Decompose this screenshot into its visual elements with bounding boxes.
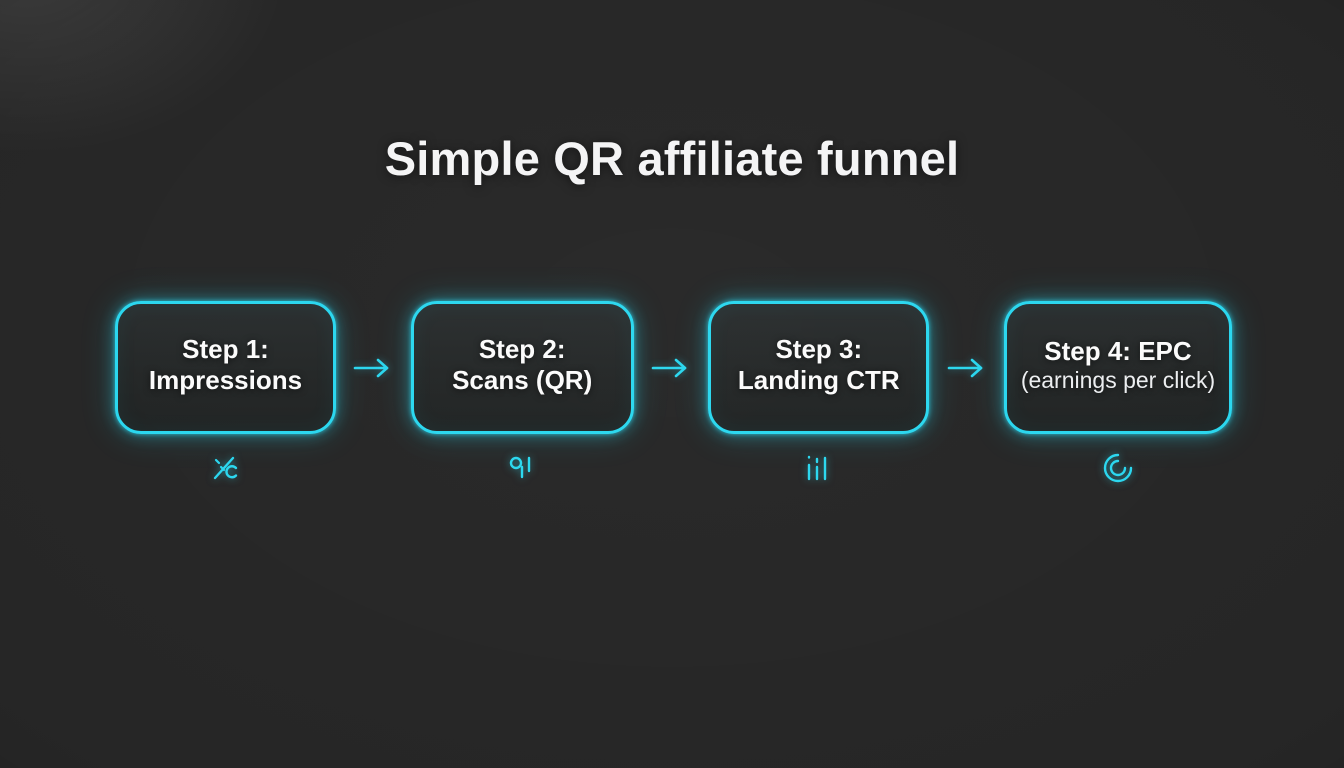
step-card-line1: Step 4: EPC bbox=[1044, 338, 1191, 365]
funnel-flow: Step 1: Impressions Step 2: bbox=[115, 301, 1232, 434]
step-card-line2: (earnings per click) bbox=[1021, 365, 1215, 397]
step-card-scans[interactable]: Step 2: Scans (QR) bbox=[411, 301, 634, 434]
scan-meter-icon bbox=[411, 451, 634, 485]
funnel-step-3[interactable]: Step 3: Landing CTR bbox=[708, 301, 929, 434]
step-card-line1: Step 2: bbox=[479, 336, 566, 363]
arrow-right-icon-1 bbox=[350, 356, 396, 380]
funnel-step-4[interactable]: Step 4: EPC (earnings per click) bbox=[1004, 301, 1232, 434]
step-card-epc[interactable]: Step 4: EPC (earnings per click) bbox=[1004, 301, 1232, 434]
funnel-step-1[interactable]: Step 1: Impressions bbox=[115, 301, 336, 434]
funnel-step-2[interactable]: Step 2: Scans (QR) bbox=[411, 301, 634, 434]
step-card-line2: Impressions bbox=[149, 363, 302, 399]
slide-canvas: Simple QR affiliate funnel Step 1: Impre… bbox=[0, 0, 1344, 768]
step-card-line2: Scans (QR) bbox=[452, 363, 592, 399]
arrow-right-icon-2 bbox=[648, 356, 694, 380]
target-ring-icon bbox=[1004, 451, 1232, 485]
step-card-landing-ctr[interactable]: Step 3: Landing CTR bbox=[708, 301, 929, 434]
step-card-line1: Step 1: bbox=[182, 336, 269, 363]
page-title: Simple QR affiliate funnel bbox=[0, 131, 1344, 186]
bar-chart-icon bbox=[708, 451, 929, 485]
arrow-right-icon-3 bbox=[944, 356, 990, 380]
step-card-impressions[interactable]: Step 1: Impressions bbox=[115, 301, 336, 434]
step-card-line2: Landing CTR bbox=[738, 363, 900, 399]
sparkle-icon bbox=[115, 451, 336, 485]
step-card-line1: Step 3: bbox=[775, 336, 862, 363]
